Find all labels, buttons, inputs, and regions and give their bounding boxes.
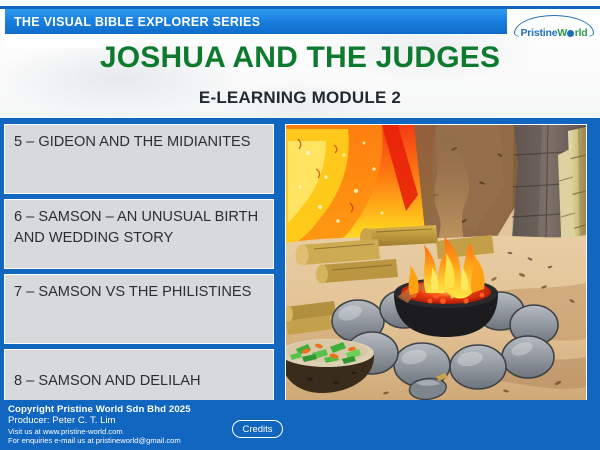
lesson-menu: 5 – GIDEON AND THE MIDIANITES 6 – SAMSON… [0, 124, 278, 399]
website-text: Visit us at www.pristine-world.com [8, 427, 123, 436]
slide-root: THE VISUAL BIBLE EXPLORER SERIES Pristin… [0, 0, 600, 450]
logo-text-w: W [557, 27, 567, 39]
menu-item-lesson-7[interactable]: 7 – SAMSON VS THE PHILISTINES [4, 274, 274, 344]
page-title: JOSHUA AND THE JUDGES [0, 41, 600, 75]
menu-item-lesson-5[interactable]: 5 – GIDEON AND THE MIDIANITES [4, 124, 274, 194]
logo-text-pristine: Pristine [520, 27, 557, 39]
slide-footer: Copyright Pristine World Sdn Bhd 2025 Pr… [0, 400, 600, 450]
email-text: For enquiries e-mail us at pristineworld… [8, 436, 181, 445]
copyright-text: Copyright Pristine World Sdn Bhd 2025 [8, 404, 191, 415]
lesson-illustration [285, 124, 587, 401]
campfire-illustration-icon [286, 125, 586, 400]
series-banner: THE VISUAL BIBLE EXPLORER SERIES [5, 9, 507, 34]
menu-item-lesson-6[interactable]: 6 – SAMSON – AN UNUSUAL BIRTH AND WEDDIN… [4, 199, 274, 269]
series-banner-label: THE VISUAL BIBLE EXPLORER SERIES [5, 15, 260, 29]
credits-button[interactable]: Credits [232, 420, 283, 438]
globe-icon [567, 30, 574, 37]
page-subtitle: E-LEARNING MODULE 2 [0, 88, 600, 108]
slide-header: THE VISUAL BIBLE EXPLORER SERIES Pristin… [0, 0, 600, 118]
producer-text: Producer: Peter C. T. Lim [8, 415, 116, 426]
logo-text-rld: rld [575, 27, 588, 39]
logo-wordmark: PristineWrld [512, 27, 596, 39]
